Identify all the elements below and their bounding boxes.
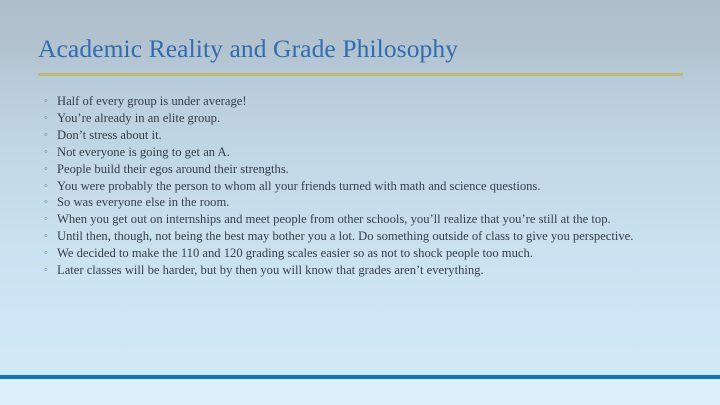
list-item-text: You were probably the person to whom all…: [57, 179, 663, 194]
bullet-circle-icon: ◦: [44, 111, 48, 126]
bullet-circle-icon: ◦: [44, 145, 48, 160]
bullet-circle-icon: ◦: [44, 94, 48, 109]
bullet-circle-icon: ◦: [44, 195, 48, 210]
list-item: ◦ People build their egos around their s…: [43, 162, 663, 177]
bullet-circle-icon: ◦: [44, 162, 48, 177]
bullet-circle-icon: ◦: [44, 128, 48, 143]
list-item-text: We decided to make the 110 and 120 gradi…: [57, 246, 663, 261]
list-item: ◦ We decided to make the 110 and 120 gra…: [43, 246, 663, 261]
list-item: ◦ So was everyone else in the room.: [43, 195, 663, 210]
slide-canvas: Academic Reality and Grade Philosophy ◦ …: [0, 0, 720, 405]
title-divider-rule: [38, 73, 683, 76]
bullet-circle-icon: ◦: [44, 263, 48, 278]
list-item-text: So was everyone else in the room.: [57, 195, 663, 210]
list-item: ◦ When you get out on internships and me…: [43, 212, 663, 227]
page-title: Academic Reality and Grade Philosophy: [38, 33, 458, 64]
list-item: ◦ Until then, though, not being the best…: [43, 229, 663, 244]
bullet-circle-icon: ◦: [44, 229, 48, 244]
list-item: ◦ Don’t stress about it.: [43, 128, 663, 143]
bullet-circle-icon: ◦: [44, 246, 48, 261]
list-item: ◦ You’re already in an elite group.: [43, 111, 663, 126]
list-item-text: When you get out on internships and meet…: [57, 212, 663, 227]
list-item: ◦ Not everyone is going to get an A.: [43, 145, 663, 160]
list-item: ◦ Half of every group is under average!: [43, 94, 663, 109]
list-item-text: Don’t stress about it.: [57, 128, 663, 143]
list-item-text: Later classes will be harder, but by the…: [57, 263, 663, 278]
list-item-text: Half of every group is under average!: [57, 94, 663, 109]
bullet-circle-icon: ◦: [44, 212, 48, 227]
list-item-text: Until then, though, not being the best m…: [57, 229, 663, 244]
list-item-text: You’re already in an elite group.: [57, 111, 663, 126]
footer: ECE 120: Introduction to Computing © 201…: [0, 379, 720, 405]
bullet-circle-icon: ◦: [44, 179, 48, 194]
list-item-text: People build their egos around their str…: [57, 162, 663, 177]
list-item: ◦ Later classes will be harder, but by t…: [43, 263, 663, 278]
list-item: ◦ You were probably the person to whom a…: [43, 179, 663, 194]
list-item-text: Not everyone is going to get an A.: [57, 145, 663, 160]
bullet-list: ◦ Half of every group is under average! …: [43, 94, 663, 280]
